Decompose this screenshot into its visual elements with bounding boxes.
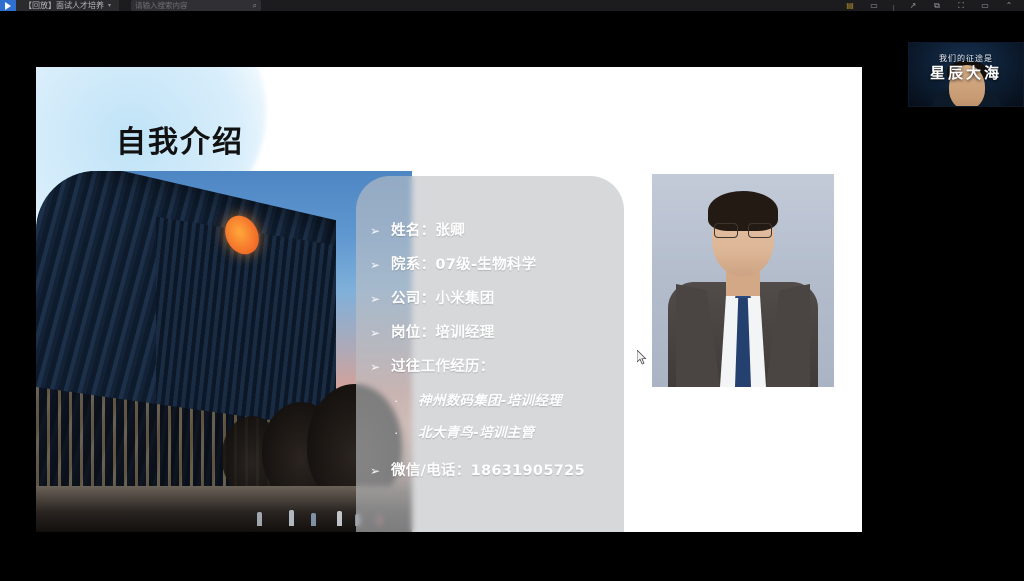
collapse-icon[interactable]: ⌃ xyxy=(1004,1,1014,11)
list-item: · 神州数码集团-培训经理 xyxy=(394,389,670,409)
presentation-player-window: 【回放】面试人才培养 ▾ 请输入搜索内容 ⌕ ▤ ▭ ↗ ⧉ ⛶ ▭ ⌃ 自我介… xyxy=(0,0,1024,581)
dot-bullet-icon: · xyxy=(394,426,400,439)
comment-icon[interactable]: ▭ xyxy=(869,1,879,11)
list-item: ➢ 微信/电话：18631905725 xyxy=(370,459,670,480)
list-item: ➢ 公司：小米集团 xyxy=(370,287,670,308)
arrow-bullet-icon: ➢ xyxy=(370,327,382,339)
bullet-name: 姓名：张卿 xyxy=(391,219,465,240)
pedestrian xyxy=(257,512,262,526)
fullscreen-icon[interactable]: ⛶ xyxy=(956,1,966,11)
share-icon[interactable]: ↗ xyxy=(908,1,918,11)
session-tab-label: 【回放】面试人才培养 xyxy=(24,1,104,11)
pedestrian xyxy=(311,513,316,526)
chevron-down-icon[interactable]: ▾ xyxy=(108,1,111,11)
dot-bullet-icon: · xyxy=(394,394,400,407)
session-tab[interactable]: 【回放】面试人才培养 ▾ xyxy=(16,0,119,11)
list-item: ➢ 院系：07级-生物科学 xyxy=(370,253,670,274)
arrow-bullet-icon: ➢ xyxy=(370,465,382,477)
slide-canvas[interactable]: 自我介绍 xyxy=(36,67,862,532)
arrow-bullet-icon: ➢ xyxy=(370,259,382,271)
glasses-icon xyxy=(714,223,772,236)
bullet-list: ➢ 姓名：张卿 ➢ 院系：07级-生物科学 ➢ 公司：小米集团 ➢ 岗位：培训经… xyxy=(370,219,670,493)
bullet-department: 院系：07级-生物科学 xyxy=(391,253,537,274)
arrow-bullet-icon: ➢ xyxy=(370,361,382,373)
presentation-stage: 自我介绍 xyxy=(0,11,1024,581)
topbar-tools: ▤ ▭ ↗ ⧉ ⛶ ▭ ⌃ xyxy=(845,0,1024,11)
app-logo-icon xyxy=(0,0,16,11)
minimize-icon[interactable]: ▭ xyxy=(980,1,990,11)
app-top-bar: 【回放】面试人才培养 ▾ 请输入搜索内容 ⌕ ▤ ▭ ↗ ⧉ ⛶ ▭ ⌃ xyxy=(0,0,1024,11)
pedestrian xyxy=(337,511,342,526)
book-icon[interactable]: ▤ xyxy=(845,1,855,11)
webcam-caption-line2: 星辰大海 xyxy=(909,62,1023,83)
bullet-contact: 微信/电话：18631905725 xyxy=(391,459,585,480)
bullet-experience-heading: 过往工作经历： xyxy=(391,355,495,376)
bullet-company: 公司：小米集团 xyxy=(391,287,495,308)
screenshot-icon[interactable]: ⧉ xyxy=(932,1,942,11)
portrait-photo xyxy=(652,174,834,387)
webcam-tile[interactable]: 我们的征途是 星辰大海 xyxy=(908,42,1024,107)
pedestrian xyxy=(289,510,294,526)
bullet-experience-2: 北大青鸟-培训主管 xyxy=(418,421,534,441)
arrow-bullet-icon: ➢ xyxy=(370,225,382,237)
page-title: 自我介绍 xyxy=(116,117,244,161)
search-input[interactable]: 请输入搜索内容 xyxy=(135,1,188,11)
bullet-experience-1: 神州数码集团-培训经理 xyxy=(418,389,562,409)
list-item: ➢ 岗位：培训经理 xyxy=(370,321,670,342)
list-item: ➢ 姓名：张卿 xyxy=(370,219,670,240)
list-item: ➢ 过往工作经历： xyxy=(370,355,670,376)
list-item: · 北大青鸟-培训主管 xyxy=(394,421,670,441)
bullet-position: 岗位：培训经理 xyxy=(391,321,495,342)
arrow-bullet-icon: ➢ xyxy=(370,293,382,305)
search-icon[interactable]: ⌕ xyxy=(253,1,257,11)
search-box[interactable]: 请输入搜索内容 ⌕ xyxy=(131,0,261,11)
